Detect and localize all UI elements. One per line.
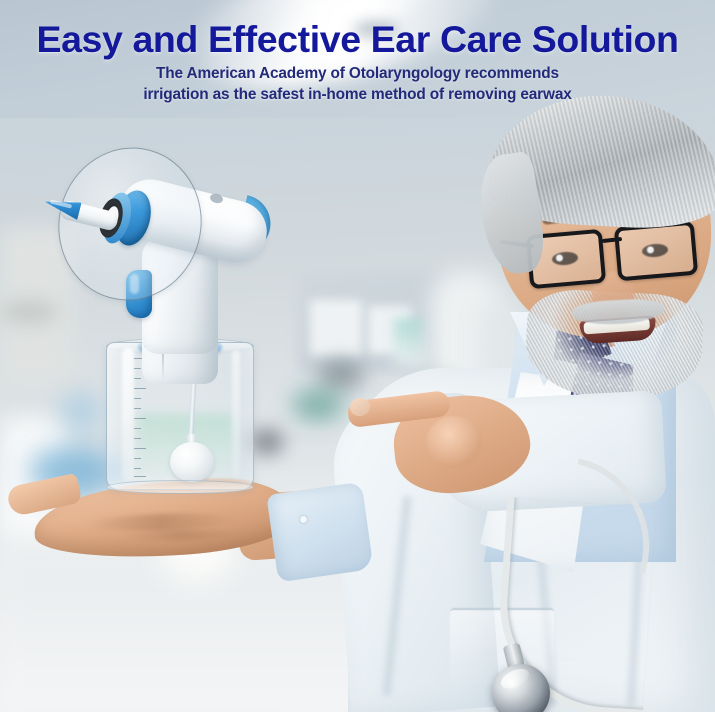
knuckles: [426, 416, 482, 468]
tick-mark: [134, 408, 141, 409]
subtitle-line-1: The American Academy of Otolaryngology r…: [0, 64, 715, 85]
intake-ball: [170, 442, 214, 482]
shirt-cuff: [266, 482, 373, 583]
reservoir-highlight: [232, 350, 240, 478]
product-banner-image: Easy and Effective Ear Care Solution The…: [0, 0, 715, 712]
tick-mark: [134, 468, 141, 469]
eyeglasses-lens-right: [614, 221, 698, 282]
reservoir-base: [106, 480, 254, 494]
tick-mark: [134, 418, 146, 419]
tick-mark: [134, 458, 141, 459]
banner-subtitle: The American Academy of Otolaryngology r…: [0, 64, 715, 105]
tick-mark: [134, 428, 141, 429]
ear-irrigation-device: [44, 142, 274, 512]
tick-mark: [134, 378, 141, 379]
subtitle-line-2: irrigation as the safest in-home method …: [0, 85, 715, 106]
page-title: Easy and Effective Ear Care Solution: [0, 17, 715, 62]
tick-mark: [134, 476, 146, 477]
tick-mark: [134, 448, 146, 449]
tick-mark: [134, 398, 141, 399]
tick-mark: [134, 438, 141, 439]
reservoir-highlight: [122, 348, 134, 480]
cuff-button: [300, 516, 307, 523]
tick-mark: [134, 368, 141, 369]
doctor-figure: [330, 96, 715, 712]
tick-mark: [134, 388, 146, 389]
